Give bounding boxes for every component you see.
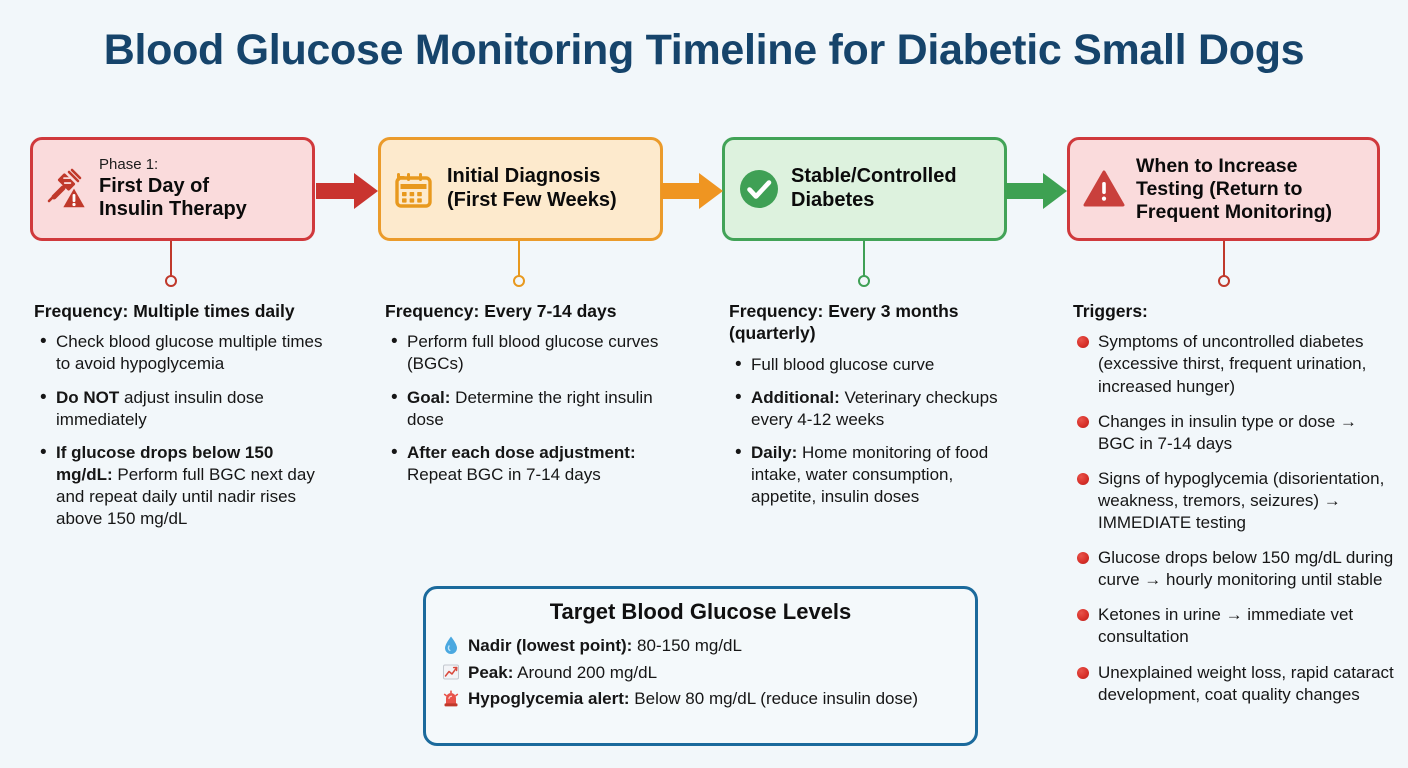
target-row-value: Around 200 mg/dL — [513, 663, 657, 682]
column-bullet-list: Full blood glucose curveAdditional: Vete… — [729, 354, 1011, 509]
list-item-text: Changes in insulin type or dose → BGC in… — [1098, 412, 1357, 453]
list-item-text: Repeat BGC in 7-14 days — [407, 465, 601, 484]
target-row-label: Hypoglycemia alert: — [468, 689, 630, 708]
stage-card-first-day-insulin[interactable]: Phase 1: First Day of Insulin Therapy — [30, 137, 315, 241]
connector-stem-phase2 — [511, 241, 527, 291]
detail-column-phase1: Frequency: Multiple times daily Check bl… — [34, 300, 334, 541]
detail-column-triggers: Triggers: Symptoms of uncontrolled diabe… — [1073, 300, 1398, 719]
list-item-emphasis: After each dose adjustment: — [407, 443, 636, 462]
list-item: Signs of hypoglycemia (disorientation, w… — [1073, 468, 1398, 534]
list-item: Do NOT adjust insulin dose immediately — [34, 387, 334, 431]
target-box-title: Target Blood Glucose Levels — [442, 599, 959, 625]
list-item: Perform full blood glucose curves (BGCs) — [385, 331, 675, 375]
connector-node — [513, 275, 525, 287]
arrow-phase2-to-phase3 — [661, 170, 725, 212]
list-item-emphasis: Additional: — [751, 388, 840, 407]
detail-column-phase3: Frequency: Every 3 months (quarterly) Fu… — [729, 300, 1011, 519]
warning-triangle-icon — [1082, 167, 1126, 211]
column-heading: Frequency: Multiple times daily — [34, 300, 334, 322]
list-item: Full blood glucose curve — [729, 354, 1011, 376]
list-item: Glucose drops below 150 mg/dL during cur… — [1073, 547, 1398, 591]
target-row-peak: Peak: Around 200 mg/dL — [442, 661, 959, 686]
connector-stem-phase4 — [1216, 241, 1232, 291]
check-circle-icon — [737, 167, 781, 211]
connector-node — [1218, 275, 1230, 287]
arrow-phase1-to-phase2 — [316, 170, 380, 212]
list-item: After each dose adjustment: Repeat BGC i… — [385, 442, 675, 486]
list-item-text: Unexplained weight loss, rapid cataract … — [1098, 663, 1394, 704]
connector-line — [1223, 241, 1225, 279]
page-title: Blood Glucose Monitoring Timeline for Di… — [0, 26, 1408, 75]
connector-line — [518, 241, 520, 279]
calendar-icon — [393, 167, 437, 211]
water-droplet-icon — [442, 635, 460, 655]
target-row-value: 80-150 mg/dL — [632, 636, 742, 655]
column-bullet-list: Check blood glucose multiple times to av… — [34, 331, 334, 530]
column-heading: Frequency: Every 3 months (quarterly) — [729, 300, 1011, 345]
list-item-text: Ketones in urine → immediate vet consult… — [1098, 605, 1353, 646]
detail-column-phase2: Frequency: Every 7-14 days Perform full … — [385, 300, 675, 497]
stage-title: Stable/Controlled Diabetes — [791, 165, 957, 212]
connector-stem-phase3 — [856, 241, 872, 291]
list-item: Additional: Veterinary checkups every 4-… — [729, 387, 1011, 431]
stage-title: Initial Diagnosis (First Few Weeks) — [447, 165, 617, 212]
connector-line — [170, 241, 172, 279]
arrow-phase3-to-phase4 — [1005, 170, 1069, 212]
list-item-text: Glucose drops below 150 mg/dL during cur… — [1098, 548, 1393, 589]
target-row-value: Below 80 mg/dL (reduce insulin dose) — [630, 689, 919, 708]
target-row-label: Nadir (lowest point): — [468, 636, 632, 655]
stage-title: First Day of Insulin Therapy — [99, 175, 247, 222]
list-item: Daily: Home monitoring of food intake, w… — [729, 442, 1011, 508]
target-row-text: Nadir (lowest point): 80-150 mg/dL — [468, 634, 742, 659]
stage-card-text: Stable/Controlled Diabetes — [791, 165, 957, 212]
connector-node — [165, 275, 177, 287]
list-item-text: Check blood glucose multiple times to av… — [56, 332, 322, 373]
connector-stem-phase1 — [163, 241, 179, 291]
list-item: If glucose drops below 150 mg/dL: Perfor… — [34, 442, 334, 530]
stage-title: When to Increase Testing (Return to Freq… — [1136, 155, 1332, 224]
column-heading: Frequency: Every 7-14 days — [385, 300, 675, 322]
column-heading: Triggers: — [1073, 300, 1398, 322]
target-row-hypoglycemia-alert: Hypoglycemia alert: Below 80 mg/dL (redu… — [442, 687, 959, 712]
stage-card-text: Initial Diagnosis (First Few Weeks) — [447, 165, 617, 212]
syringe-warning-icon — [45, 167, 89, 211]
list-item: Unexplained weight loss, rapid cataract … — [1073, 662, 1398, 706]
list-item: Symptoms of uncontrolled diabetes (exces… — [1073, 331, 1398, 397]
target-row-nadir: Nadir (lowest point): 80-150 mg/dL — [442, 634, 959, 659]
connector-line — [863, 241, 865, 279]
target-row-text: Hypoglycemia alert: Below 80 mg/dL (redu… — [468, 687, 918, 712]
target-blood-glucose-box: Target Blood Glucose Levels Nadir (lowes… — [423, 586, 978, 746]
chart-increasing-icon — [442, 662, 460, 682]
infographic-root: Blood Glucose Monitoring Timeline for Di… — [0, 0, 1408, 768]
stage-card-text: Phase 1: First Day of Insulin Therapy — [99, 156, 247, 221]
trigger-list: Symptoms of uncontrolled diabetes (exces… — [1073, 331, 1398, 705]
list-item-text: Symptoms of uncontrolled diabetes (exces… — [1098, 332, 1366, 395]
stage-card-stable-controlled[interactable]: Stable/Controlled Diabetes — [722, 137, 1007, 241]
list-item-text: Full blood glucose curve — [751, 355, 934, 374]
stage-card-text: When to Increase Testing (Return to Freq… — [1136, 155, 1332, 224]
stage-card-when-to-increase-testing[interactable]: When to Increase Testing (Return to Freq… — [1067, 137, 1380, 241]
alarm-siren-icon — [442, 688, 460, 708]
column-bullet-list: Perform full blood glucose curves (BGCs)… — [385, 331, 675, 486]
target-row-label: Peak: — [468, 663, 513, 682]
list-item-emphasis: Do NOT — [56, 388, 119, 407]
list-item-emphasis: Goal: — [407, 388, 450, 407]
list-item: Changes in insulin type or dose → BGC in… — [1073, 411, 1398, 455]
list-item-emphasis: Daily: — [751, 443, 797, 462]
connector-node — [858, 275, 870, 287]
stage-card-initial-diagnosis[interactable]: Initial Diagnosis (First Few Weeks) — [378, 137, 663, 241]
list-item: Check blood glucose multiple times to av… — [34, 331, 334, 375]
stage-phase-label: Phase 1: — [99, 156, 247, 173]
list-item: Goal: Determine the right insulin dose — [385, 387, 675, 431]
list-item-text: Signs of hypoglycemia (disorientation, w… — [1098, 469, 1384, 532]
list-item: Ketones in urine → immediate vet consult… — [1073, 604, 1398, 648]
target-row-text: Peak: Around 200 mg/dL — [468, 661, 657, 686]
list-item-text: Perform full blood glucose curves (BGCs) — [407, 332, 658, 373]
